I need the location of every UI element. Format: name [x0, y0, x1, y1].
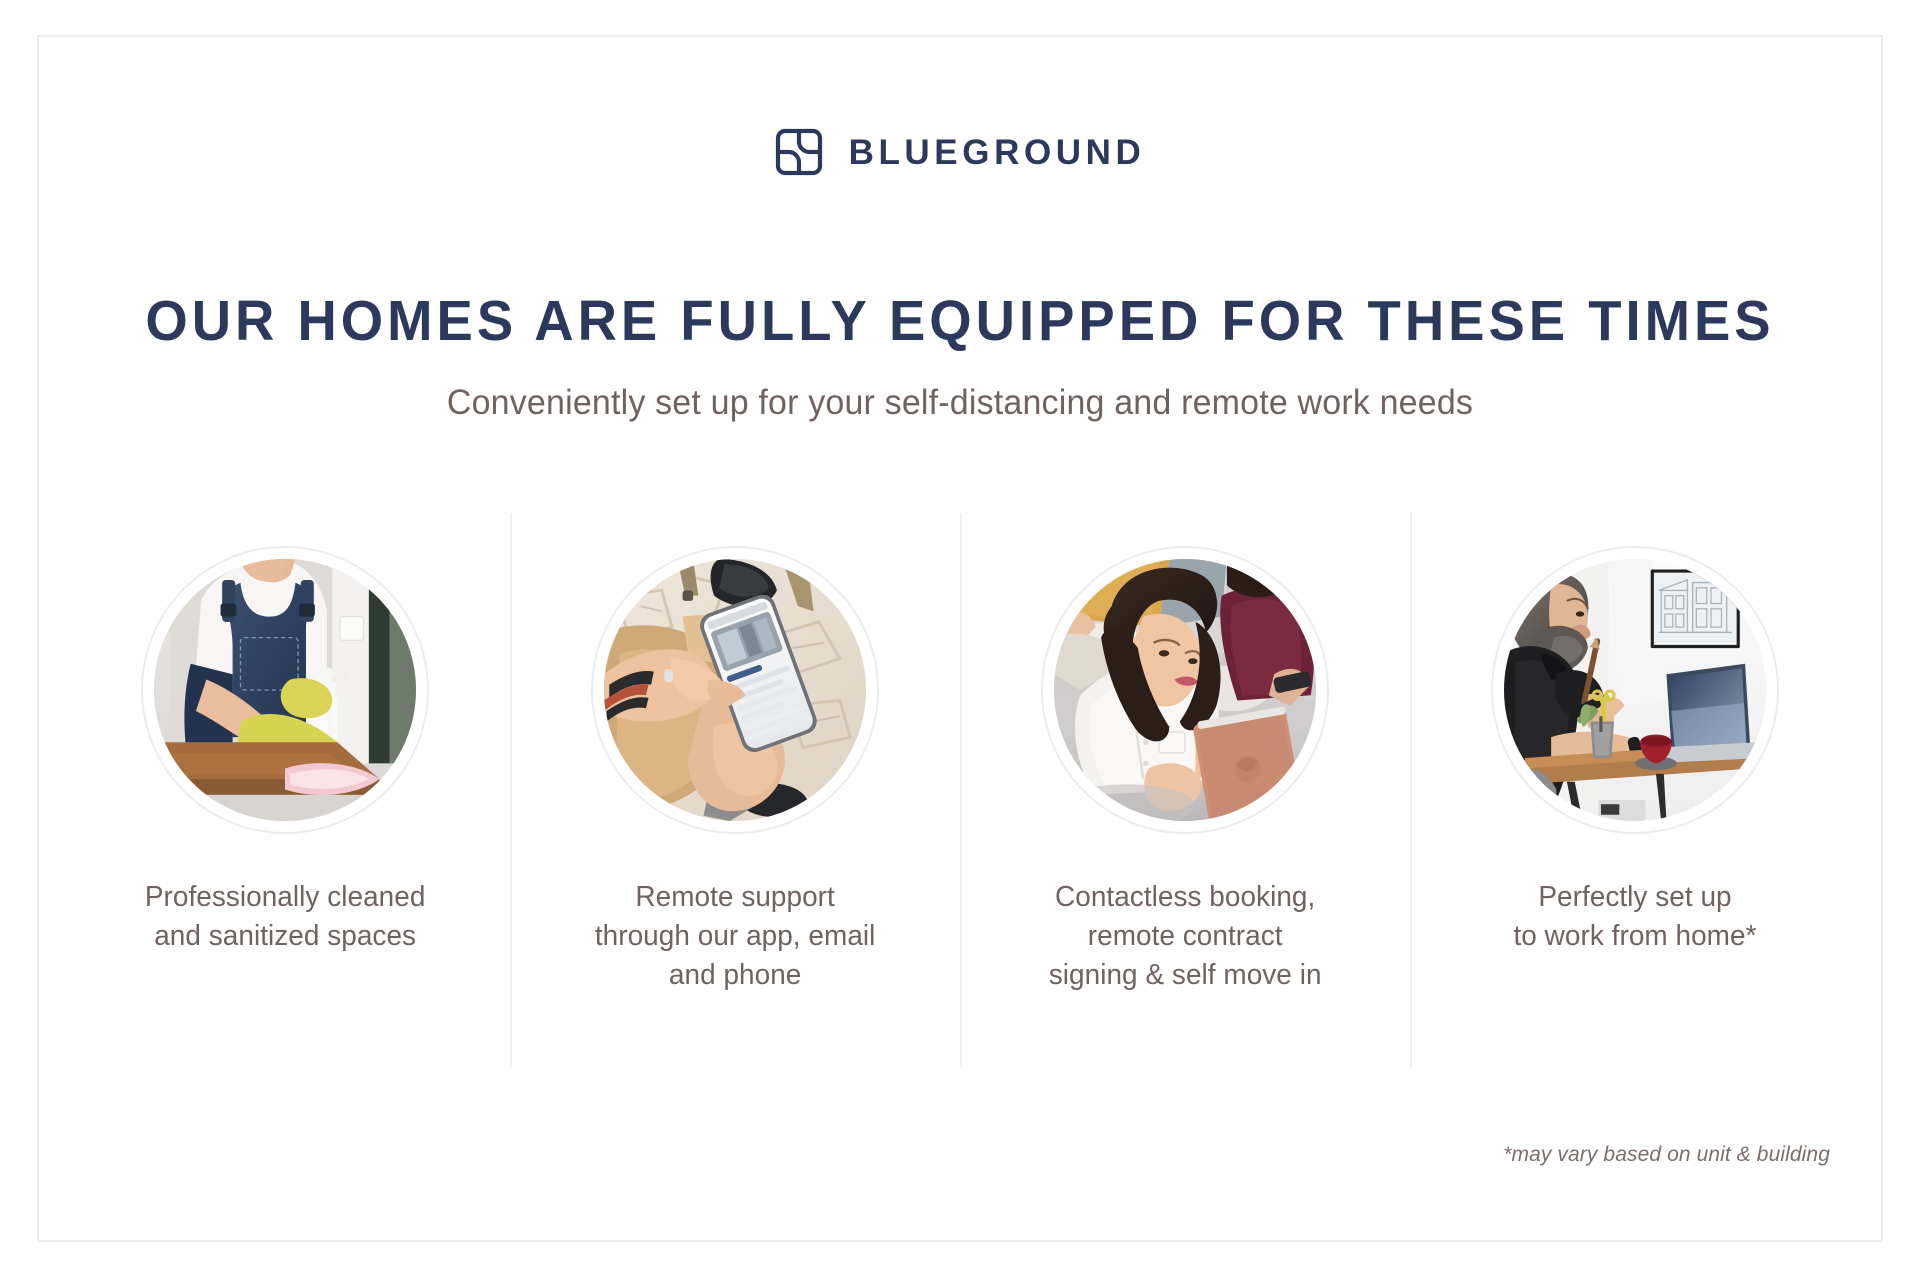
photo-phone-app-support: [604, 559, 866, 821]
photo-tablet-booking: [1054, 559, 1316, 821]
feature-item-cleaning: Professionally cleaned and sanitized spa…: [60, 513, 510, 956]
footnote-disclaimer: *may vary based on unit & building: [1503, 1143, 1830, 1167]
feature-item-work-from-home: Perfectly set up to work from home*: [1410, 513, 1860, 956]
feature-photo-ring: [591, 546, 879, 834]
feature-photo-ring: [1491, 546, 1779, 834]
feature-item-contactless-booking: Contactless booking, remote contract sig…: [960, 513, 1410, 994]
feature-caption: Professionally cleaned and sanitized spa…: [145, 878, 426, 956]
feature-photo-ring: [1041, 546, 1329, 834]
page-subtitle: Conveniently set up for your self-distan…: [29, 382, 1891, 424]
poster-canvas: BLUEGROUND OUR HOMES ARE FULLY EQUIPPED …: [0, 0, 1920, 1280]
feature-item-remote-support: Remote support through our app, email an…: [510, 513, 960, 994]
photo-work-from-home-desk: [1504, 559, 1766, 821]
feature-photo-ring: [141, 546, 429, 834]
photo-cleaning-person: [154, 559, 416, 821]
page-title: OUR HOMES ARE FULLY EQUIPPED FOR THESE T…: [43, 292, 1877, 352]
feature-grid: Professionally cleaned and sanitized spa…: [60, 513, 1860, 994]
feature-caption: Remote support through our app, email an…: [595, 878, 876, 994]
feature-caption: Perfectly set up to work from home*: [1513, 878, 1756, 956]
brand-logo: BLUEGROUND: [0, 128, 1920, 176]
brand-wordmark: BLUEGROUND: [849, 135, 1146, 170]
feature-caption: Contactless booking, remote contract sig…: [1049, 878, 1322, 994]
blueground-square-mark-icon: [775, 128, 823, 176]
